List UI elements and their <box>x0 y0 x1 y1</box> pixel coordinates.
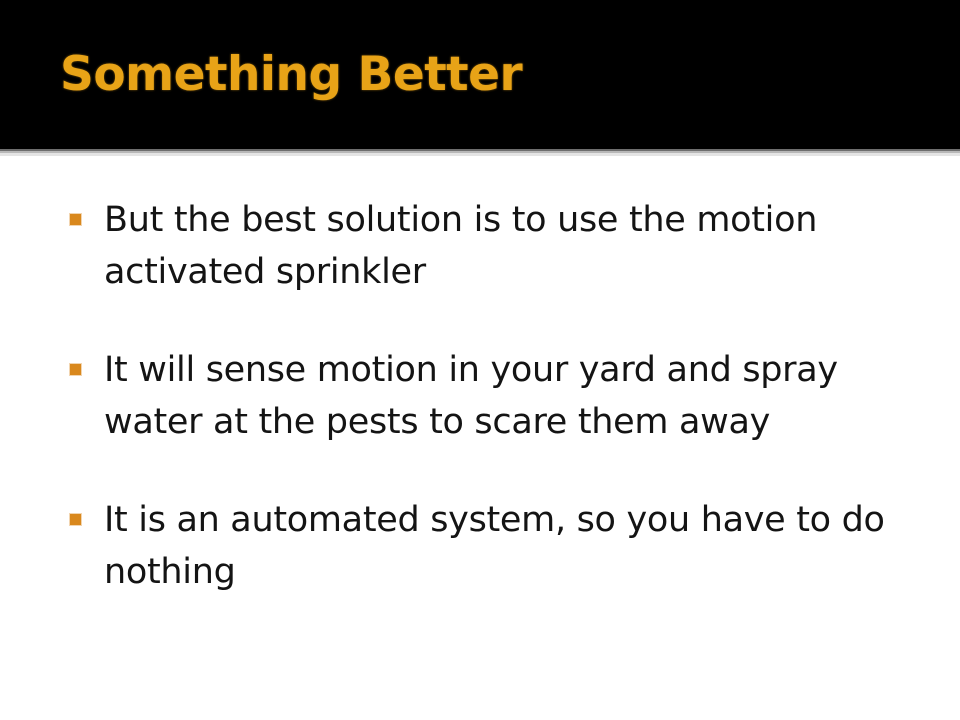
list-item: It is an automated system, so you have t… <box>62 494 912 598</box>
square-bullet-icon <box>70 364 81 375</box>
slide-title-banner: Something Better <box>0 0 960 149</box>
bullet-text: It will sense motion in your yard and sp… <box>104 344 912 448</box>
slide-body: But the best solution is to use the moti… <box>0 156 960 720</box>
presentation-slide: Something Better But the best solution i… <box>0 0 960 720</box>
title-separator <box>0 149 960 156</box>
slide-title: Something Better <box>60 46 522 104</box>
bullet-text: It is an automated system, so you have t… <box>104 494 912 598</box>
bullet-list: But the best solution is to use the moti… <box>62 194 912 598</box>
list-item: But the best solution is to use the moti… <box>62 194 912 298</box>
list-item: It will sense motion in your yard and sp… <box>62 344 912 448</box>
bullet-text: But the best solution is to use the moti… <box>104 194 912 298</box>
square-bullet-icon <box>70 214 81 225</box>
square-bullet-icon <box>70 514 81 525</box>
